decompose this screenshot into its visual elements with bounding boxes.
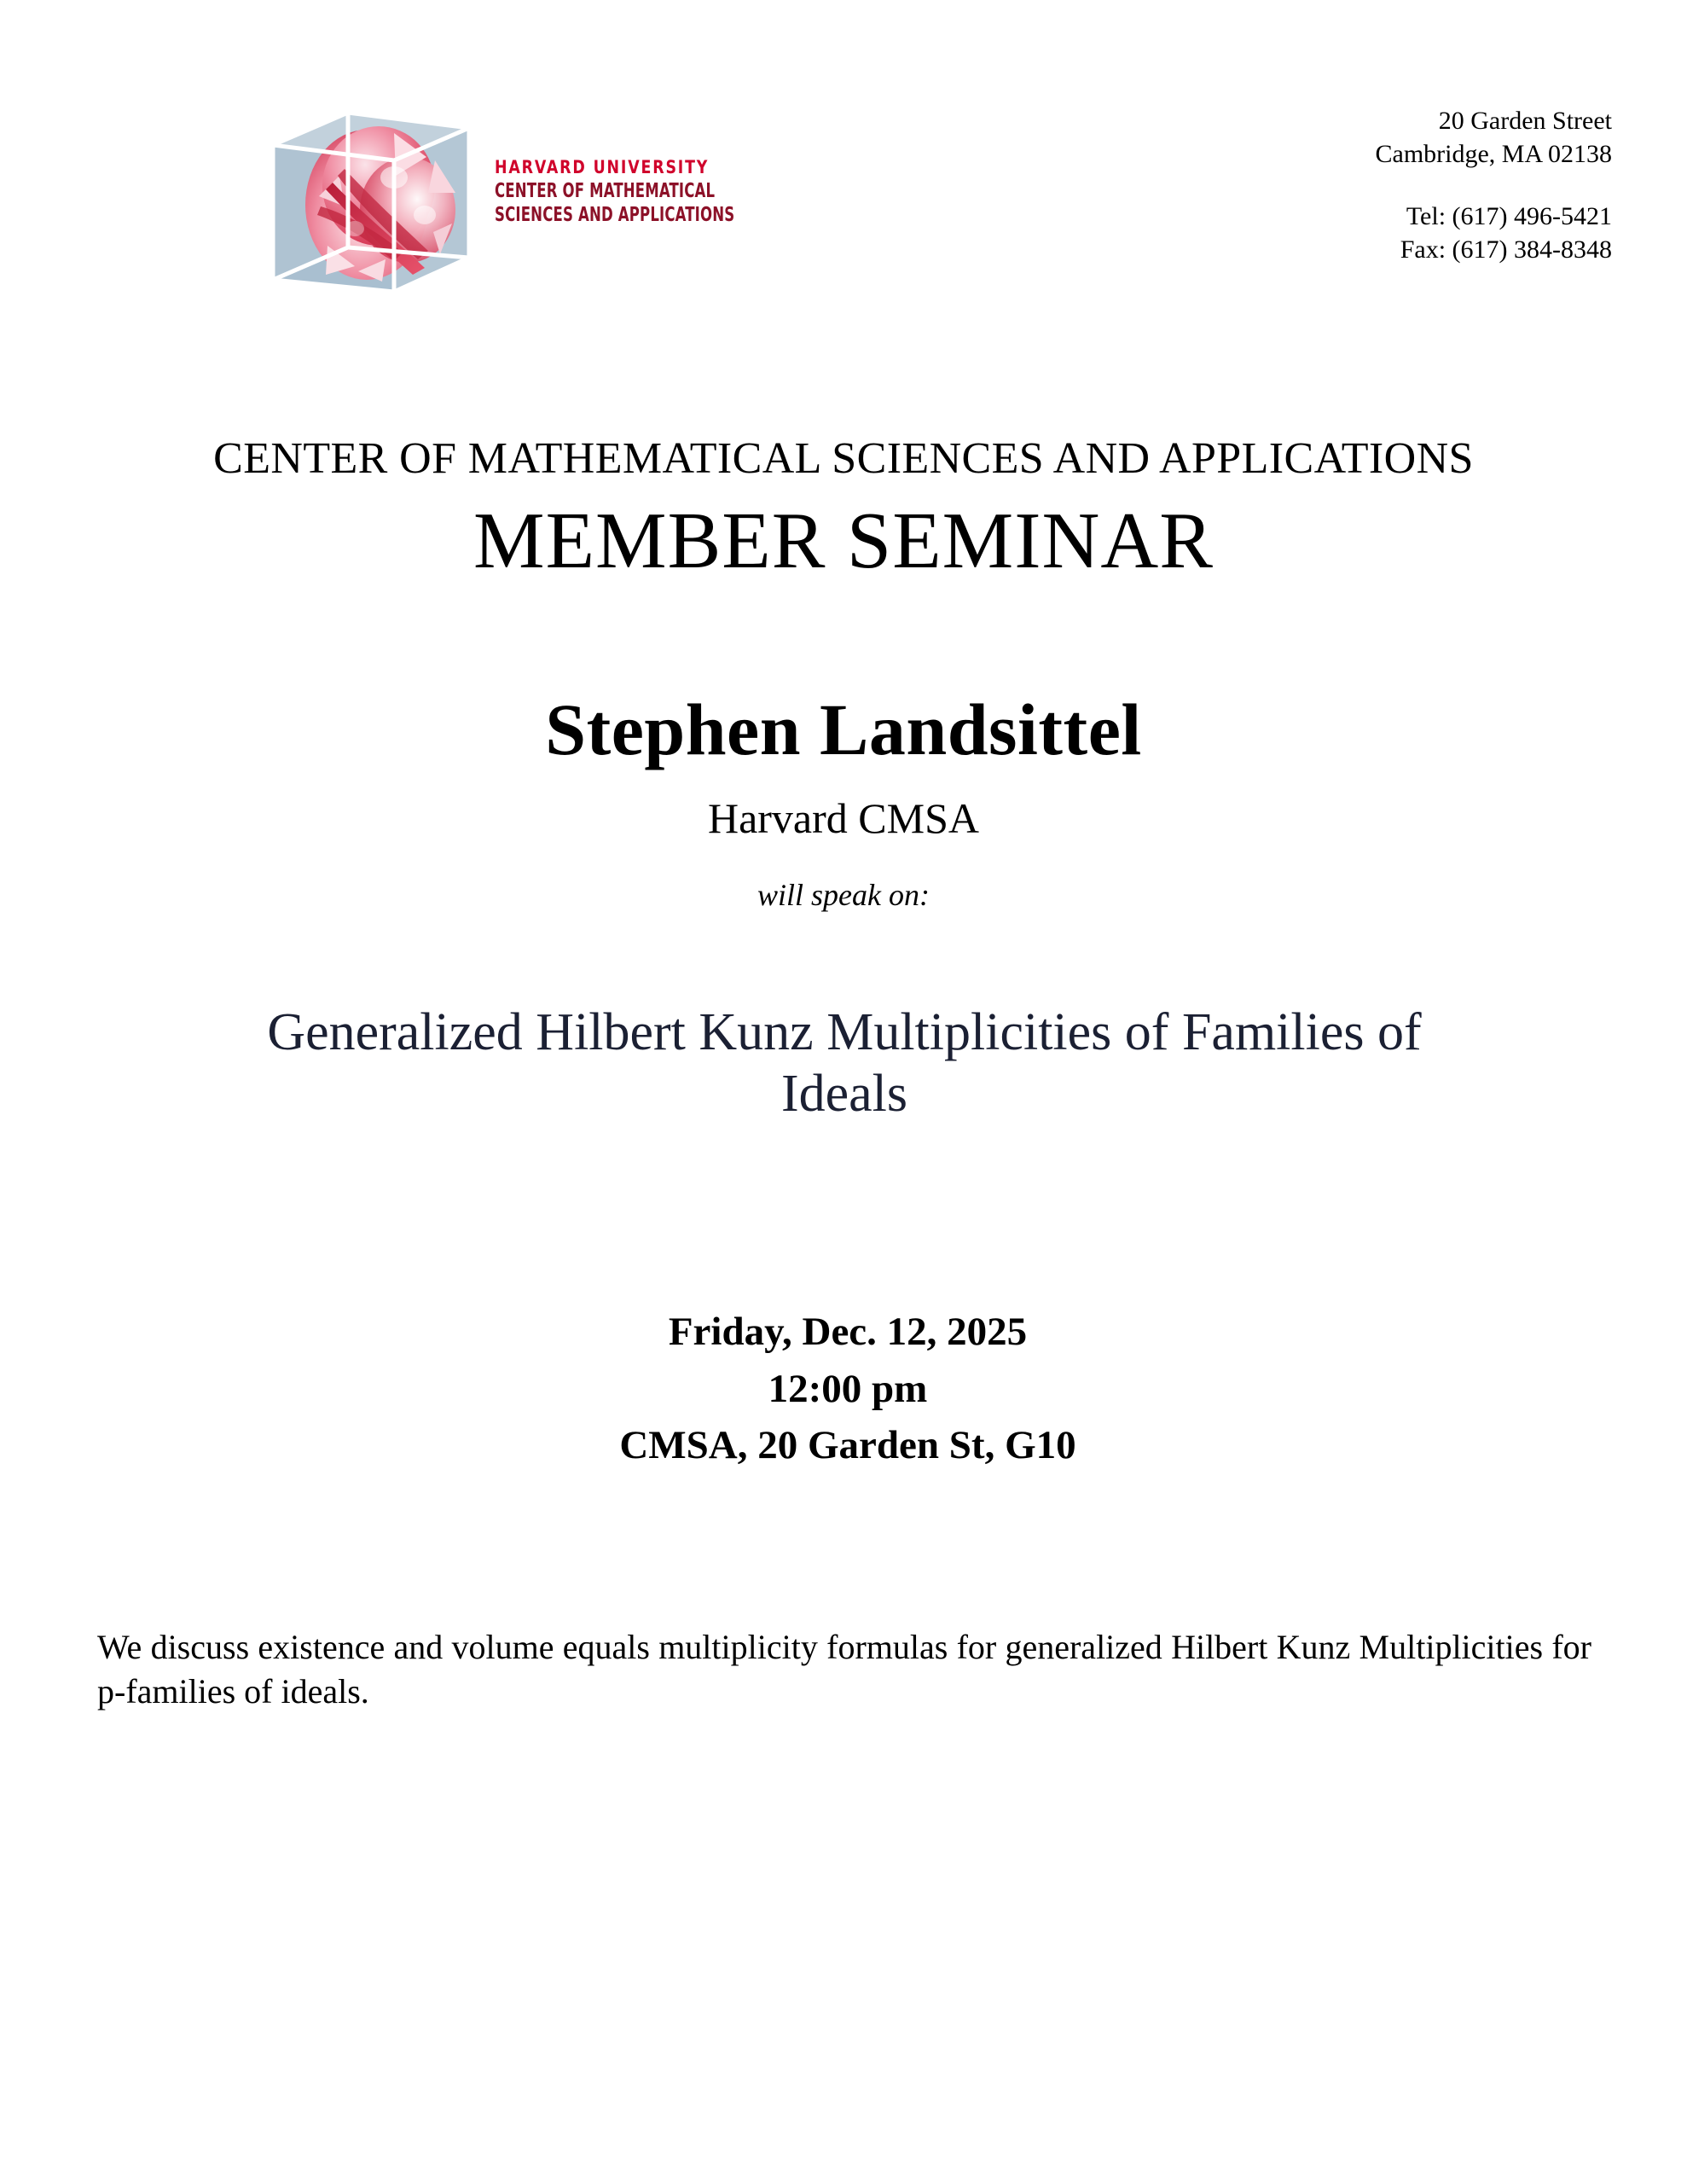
address-street: 20 Garden Street <box>1376 104 1613 137</box>
logo-sciences-and-applications-line: SCIENCES AND APPLICATIONS <box>495 203 720 227</box>
logo-center-of-mathematical-line: CENTER OF MATHEMATICAL <box>495 179 720 203</box>
cmsa-logo-block: HARVARD UNIVERSITY CENTER OF MATHEMATICA… <box>266 104 778 300</box>
letterhead-header: HARVARD UNIVERSITY CENTER OF MATHEMATICA… <box>0 0 1687 341</box>
speaker-affiliation: Harvard CMSA <box>0 793 1687 843</box>
seminar-series-heading: MEMBER SEMINAR <box>0 495 1687 587</box>
speaker-name: Stephen Landsittel <box>0 687 1687 772</box>
contact-address-block: 20 Garden Street Cambridge, MA 02138 Tel… <box>1376 104 1613 266</box>
talk-title: Generalized Hilbert Kunz Multiplicities … <box>205 1002 1484 1125</box>
event-date: Friday, Dec. 12, 2025 <box>9 1304 1687 1361</box>
will-speak-on-label: will speak on: <box>0 877 1687 913</box>
seminar-poster-page: HARVARD UNIVERSITY CENTER OF MATHEMATICA… <box>0 0 1687 2184</box>
address-city-state-zip: Cambridge, MA 02138 <box>1376 137 1613 171</box>
address-telephone: Tel: (617) 496-5421 <box>1376 200 1613 233</box>
address-spacer <box>1376 171 1613 200</box>
cmsa-calabi-yau-cube-logo-icon <box>266 104 490 293</box>
organization-heading: CENTER OF MATHEMATICAL SCIENCES AND APPL… <box>0 433 1687 484</box>
cmsa-logo-wordmark: HARVARD UNIVERSITY CENTER OF MATHEMATICA… <box>495 157 776 227</box>
abstract-body: We discuss existence and volume equals m… <box>97 1625 1591 1714</box>
event-details-block: Friday, Dec. 12, 2025 12:00 pm CMSA, 20 … <box>0 1304 1687 1474</box>
abstract-text: We discuss existence and volume equals m… <box>97 1625 1591 1714</box>
address-fax: Fax: (617) 384-8348 <box>1376 233 1613 266</box>
event-time: 12:00 pm <box>9 1361 1687 1418</box>
logo-harvard-university-line: HARVARD UNIVERSITY <box>495 157 754 179</box>
event-location: CMSA, 20 Garden St, G10 <box>9 1417 1687 1474</box>
